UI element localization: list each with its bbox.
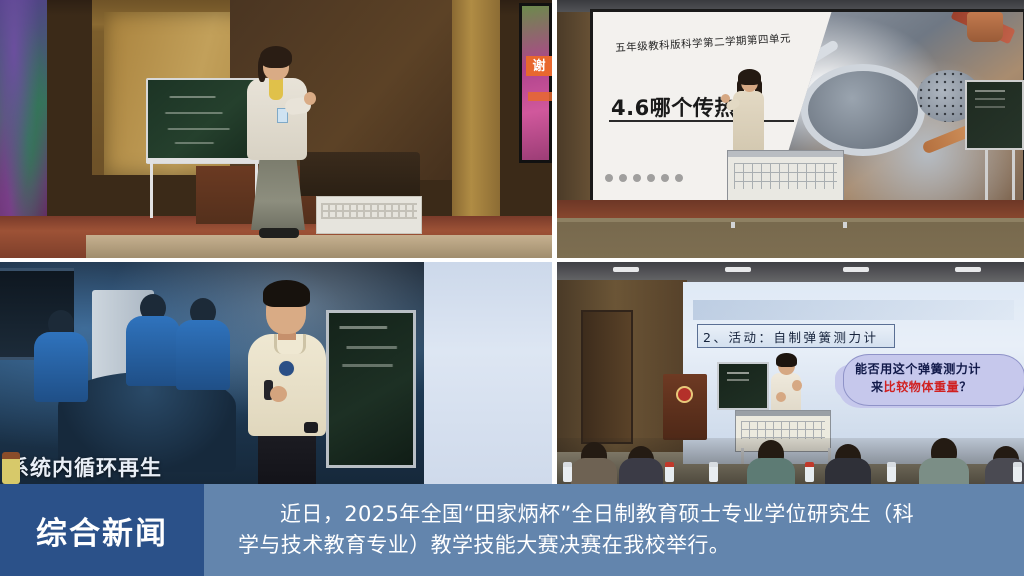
chalkboard-stand [150, 160, 258, 218]
student-figure [126, 294, 180, 402]
photo-bottom-right[interactable]: 2、活动：自制弹簧测力计 能否用这个弹簧测力计 来比较物体重量？ [557, 262, 1024, 484]
photo-top-left[interactable]: 谢 [0, 0, 552, 258]
presentation-toolbar[interactable] [605, 172, 705, 184]
presenter-hand [304, 92, 316, 105]
stage-front-edge [86, 235, 552, 258]
presenter-hair [263, 280, 310, 307]
audience-member [747, 440, 795, 484]
audience-body [825, 458, 871, 484]
chair-row [300, 152, 420, 196]
slide-subtitle: 五年级教科版科学第二学期第四单元 [615, 28, 845, 56]
presenter-hair [738, 69, 761, 85]
presenter-male [244, 280, 330, 484]
bubble-highlight: 比较物体重量 [884, 380, 960, 394]
water-bottle [1013, 462, 1022, 482]
slide-bubble-line-2: 来比较物体重量？ [871, 378, 972, 395]
student-figure [34, 310, 88, 426]
ceiling-light [843, 267, 869, 272]
chalkboard-writing [160, 90, 248, 146]
ceiling-light [955, 267, 981, 272]
toolbar-pointer-icon[interactable] [647, 174, 655, 182]
hall-door [581, 310, 633, 444]
caption-line-1: 近日，2025年全国“田家炳杯”全日制教育硕士专业学位研究生（科 [238, 499, 998, 530]
side-display-panel [519, 3, 552, 163]
projected-photo-caption: 系统内循环再生 [8, 452, 162, 482]
photo-top-right[interactable]: 五年级教科版科学第二学期第四单元 4.6哪个传热快 [557, 0, 1024, 258]
presenter-hand-right [792, 380, 802, 391]
led-wall-left [0, 0, 47, 248]
caption-bar: 综合新闻 近日，2025年全国“田家炳杯”全日制教育硕士专业学位研究生（科 学与… [0, 484, 1024, 576]
presenter-scarf [269, 78, 283, 100]
presenter-shoes [259, 228, 299, 238]
slide-frying-pan [801, 64, 925, 156]
student-body [34, 332, 88, 402]
category-tag[interactable]: 综合新闻 [0, 484, 204, 576]
presenter-shirt-logo [278, 360, 295, 377]
white-lab-bench [316, 196, 422, 234]
rolling-chalkboard [965, 80, 1024, 150]
water-bottle [665, 462, 674, 482]
student-body [176, 320, 230, 390]
presenter-pants [258, 434, 316, 484]
university-emblem [676, 386, 693, 403]
side-display-label: 谢 [526, 56, 552, 76]
stage-apron [557, 218, 1024, 222]
presenter-watch [304, 422, 318, 433]
slide-cup [967, 12, 1003, 42]
presenter-hand-left [776, 392, 786, 402]
right-wall-section [452, 0, 500, 250]
water-bottle [887, 462, 896, 482]
audience-member [571, 442, 617, 484]
presenter-skirt [251, 158, 305, 230]
presenter-hand [721, 94, 730, 103]
toolbar-pen-icon[interactable] [633, 174, 641, 182]
water-bottle [709, 462, 718, 482]
toolbar-more-icon[interactable] [675, 174, 683, 182]
audience-body [571, 458, 617, 484]
right-white-wall [424, 262, 552, 484]
presenter-hand [270, 386, 287, 402]
speaker-podium [663, 374, 707, 440]
audience-body [619, 458, 663, 484]
photo-grid: 谢 五年级教科版科学第二学期第四单元 4.6哪个传热快 [0, 0, 1024, 484]
water-bottle [805, 462, 814, 482]
rolling-chalkboard-stand [985, 150, 1015, 202]
slide-bubble-line-1: 能否用这个弹簧测力计 [855, 360, 981, 377]
audience-body [919, 458, 969, 484]
news-photo-banner: 谢 五年级教科版科学第二学期第四单元 4.6哪个传热快 [0, 0, 1024, 576]
toolbar-grid-icon[interactable] [661, 174, 669, 182]
photo-bottom-left[interactable]: 系统内循环再生 [0, 262, 552, 484]
presenter-hair [260, 46, 292, 68]
green-chalkboard [146, 78, 260, 164]
category-tag-label: 综合新闻 [36, 508, 168, 553]
caption-body: 近日，2025年全国“田家炳杯”全日制教育硕士专业学位研究生（科 学与技术教育专… [204, 484, 1024, 576]
caption-line-2: 学与技术教育专业）教学技能大赛决赛在我校举行。 [238, 530, 998, 561]
student-body [126, 316, 180, 386]
audience-member [919, 438, 969, 484]
presenter-hair [776, 353, 797, 367]
water-bottle [2, 452, 20, 484]
slide-title: 2、活动：自制弹簧测力计 [703, 327, 878, 346]
student-figure [176, 298, 230, 402]
water-bottle [563, 462, 572, 482]
small-chalkboard [717, 362, 769, 410]
bubble-suffix: ？ [959, 380, 972, 394]
chalkboard-writing [336, 322, 406, 392]
left-side-wall [557, 12, 595, 202]
audience-body [747, 458, 795, 484]
ceiling-light [725, 267, 751, 272]
toolbar-next-icon[interactable] [619, 174, 627, 182]
side-display-sublabel [528, 92, 552, 101]
audience-member [825, 444, 871, 484]
audience-row [557, 438, 1024, 484]
slide-heading-underline [609, 120, 794, 122]
ceiling-light [613, 267, 639, 272]
audience-member [619, 446, 663, 484]
slide-faint-header [693, 300, 1014, 320]
presenter-female [245, 50, 315, 246]
toolbar-prev-icon[interactable] [605, 174, 613, 182]
bubble-prefix: 来 [871, 380, 884, 394]
